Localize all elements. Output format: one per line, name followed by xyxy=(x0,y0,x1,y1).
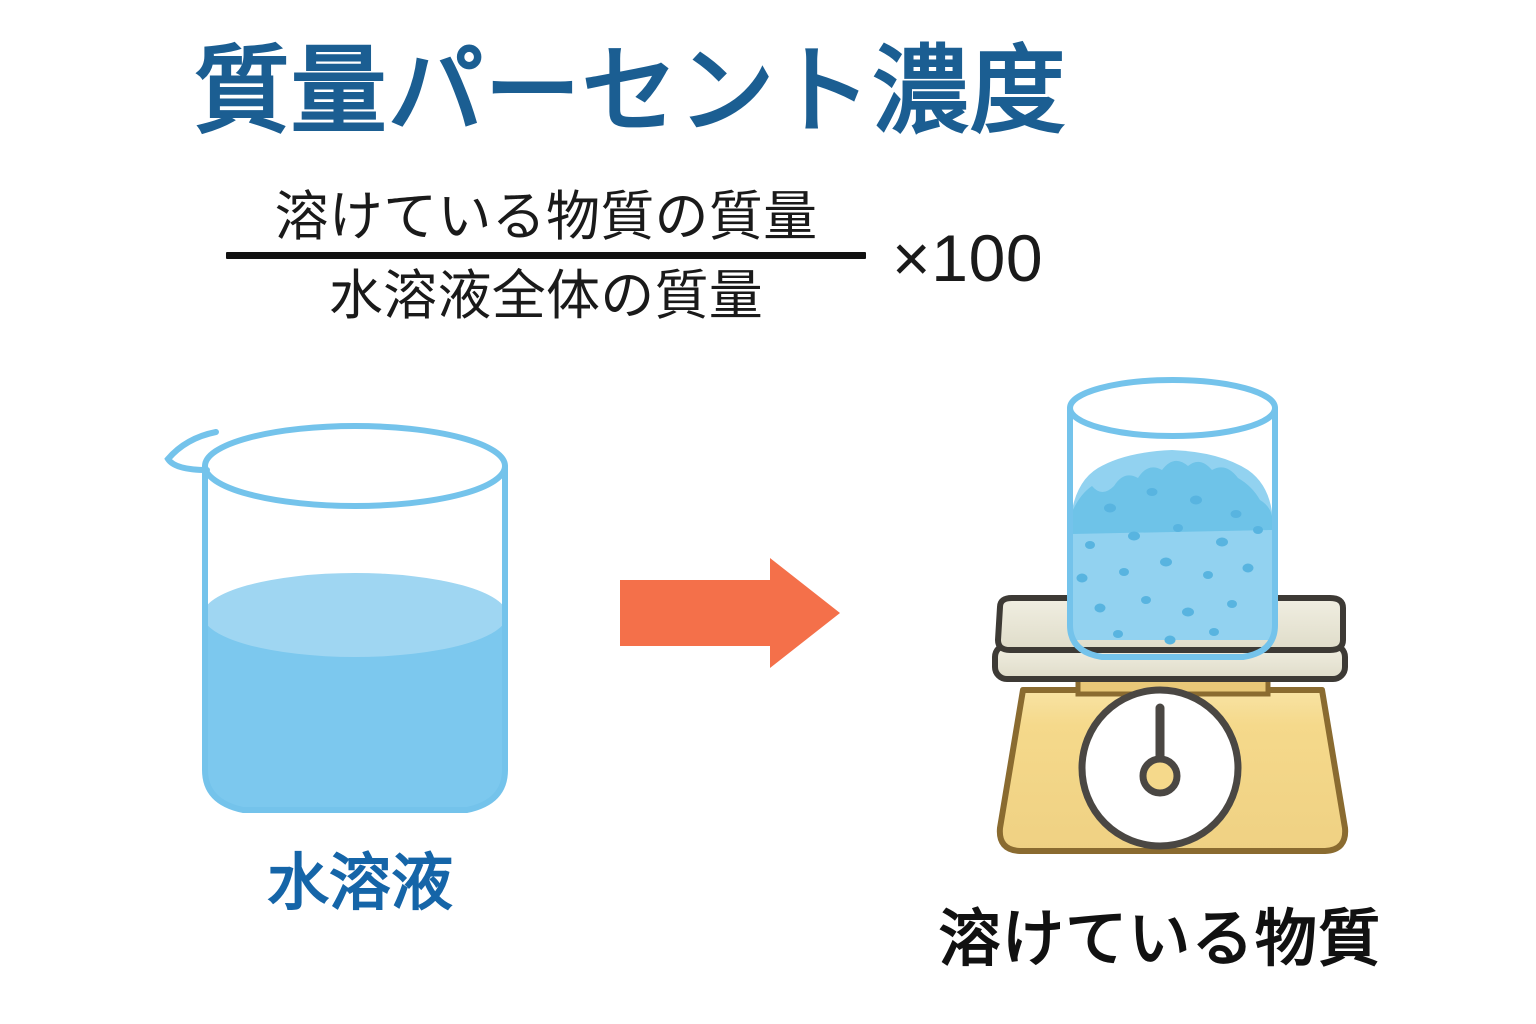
beaker-with-solute-icon xyxy=(1070,380,1275,657)
page-title: 質量パーセント濃度 xyxy=(0,42,1260,143)
label-solution: 水溶液 xyxy=(150,832,570,922)
fraction-denominator: 水溶液全体の質量 xyxy=(329,259,763,327)
beaker-with-solution-icon xyxy=(168,426,507,815)
multiplier-label: ×100 xyxy=(892,220,1043,296)
kitchen-scale-icon xyxy=(995,598,1345,851)
formula: 溶けている物質の質量 水溶液全体の質量 ×100 xyxy=(222,186,1043,327)
fraction-numerator: 溶けている物質の質量 xyxy=(275,186,818,252)
fraction: 溶けている物質の質量 水溶液全体の質量 xyxy=(222,186,870,327)
right-arrow-icon xyxy=(620,558,840,668)
fraction-bar xyxy=(226,252,866,259)
scale-dial-icon xyxy=(1082,690,1238,846)
diagram-canvas: 質量パーセント濃度 溶けている物質の質量 水溶液全体の質量 ×100 xyxy=(0,0,1536,1024)
label-solute: 溶けている物質 xyxy=(840,888,1480,978)
